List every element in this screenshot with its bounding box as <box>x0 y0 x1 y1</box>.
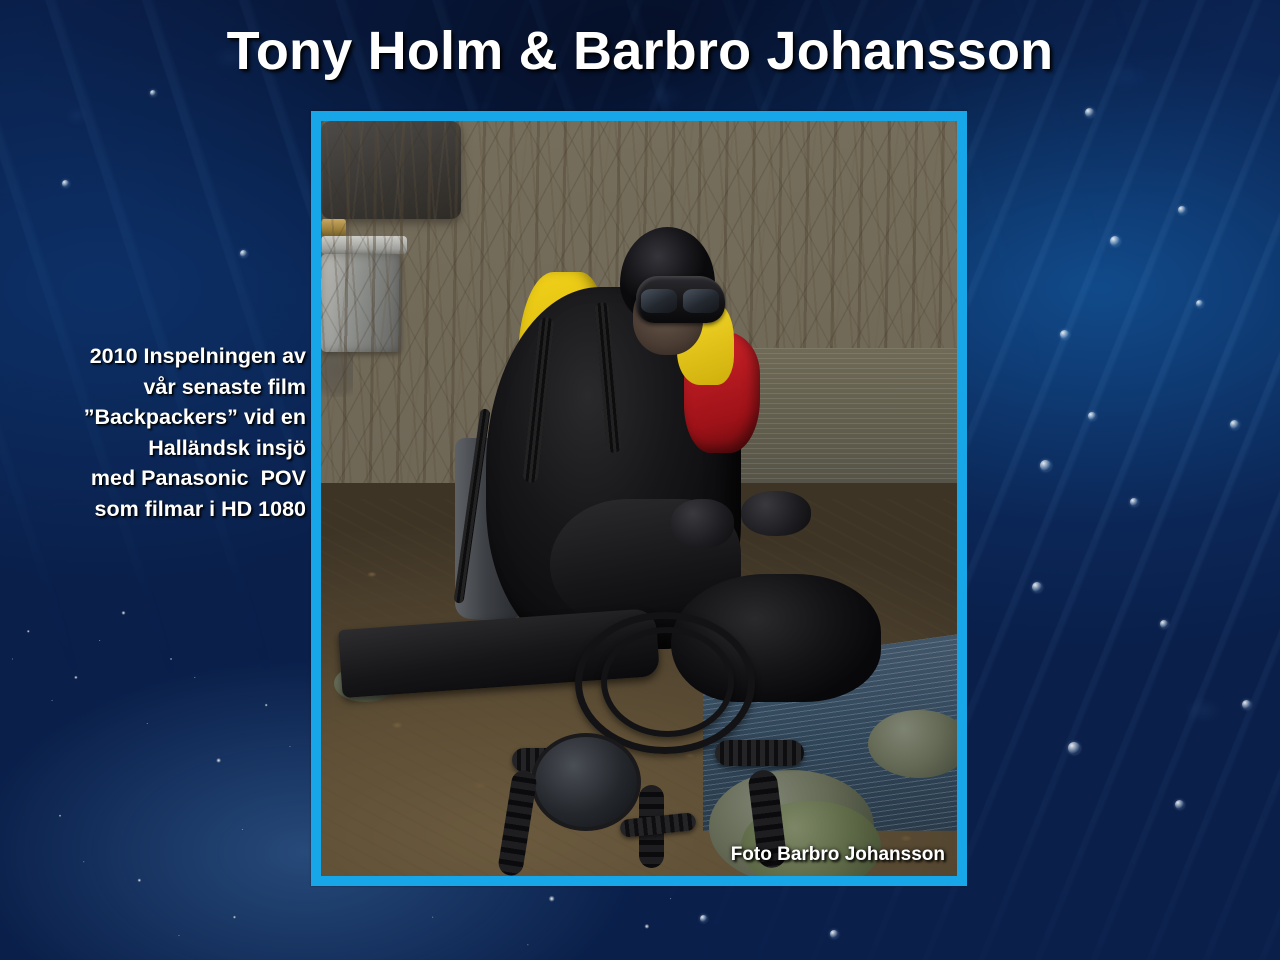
bubble-icon <box>1085 108 1094 117</box>
caption-line: med Panasonic POV <box>34 463 306 494</box>
presentation-slide: Tony Holm & Barbro Johansson 2010 Inspel… <box>0 0 1280 960</box>
photo-camera-arm <box>715 740 804 766</box>
bubble-icon <box>62 180 69 187</box>
caption-line: vår senaste film <box>34 372 306 403</box>
slide-caption: 2010 Inspelningen av vår senaste film ”B… <box>34 341 306 524</box>
photo-camera-dome-port <box>531 733 641 832</box>
bubble-icon <box>1088 412 1096 420</box>
photo-mask-lens-right <box>683 289 719 313</box>
slide-title: Tony Holm & Barbro Johansson <box>0 20 1280 82</box>
caption-line: ”Backpackers” vid en <box>34 402 306 433</box>
bubble-icon <box>1160 620 1168 628</box>
bubble-icon <box>1130 498 1138 506</box>
caption-line: Halländsk insjö <box>34 433 306 464</box>
bubble-icon <box>1175 800 1184 809</box>
bubble-icon <box>1110 236 1120 246</box>
photo-credit: Foto Barbro Johansson <box>731 844 945 866</box>
photo-diver-glove-right <box>741 491 811 536</box>
bubble-icon <box>1230 420 1239 429</box>
caption-line: 2010 Inspelningen av <box>34 341 306 372</box>
bubble-icon <box>1060 330 1069 339</box>
caption-line: som filmar i HD 1080 <box>34 494 306 525</box>
photo-frame: Foto Barbro Johansson <box>311 111 967 886</box>
bubble-icon <box>1242 700 1251 709</box>
bubble-icon <box>1068 742 1080 754</box>
photo-camera-hose-coil <box>601 627 734 737</box>
photo-diver-glove-left <box>671 499 735 548</box>
photo-rock <box>868 710 957 778</box>
bubble-icon <box>700 915 707 922</box>
diver-photo: Foto Barbro Johansson <box>321 121 957 876</box>
bubble-icon <box>1032 582 1042 592</box>
bubble-icon <box>1178 206 1186 214</box>
bubble-icon <box>240 250 247 257</box>
bubble-icon <box>830 930 838 938</box>
bubble-icon <box>1040 460 1051 471</box>
bubble-icon <box>150 90 156 96</box>
photo-diver-mask <box>636 276 725 323</box>
bubble-icon <box>1196 300 1203 307</box>
photo-mask-lens-left <box>641 289 677 313</box>
